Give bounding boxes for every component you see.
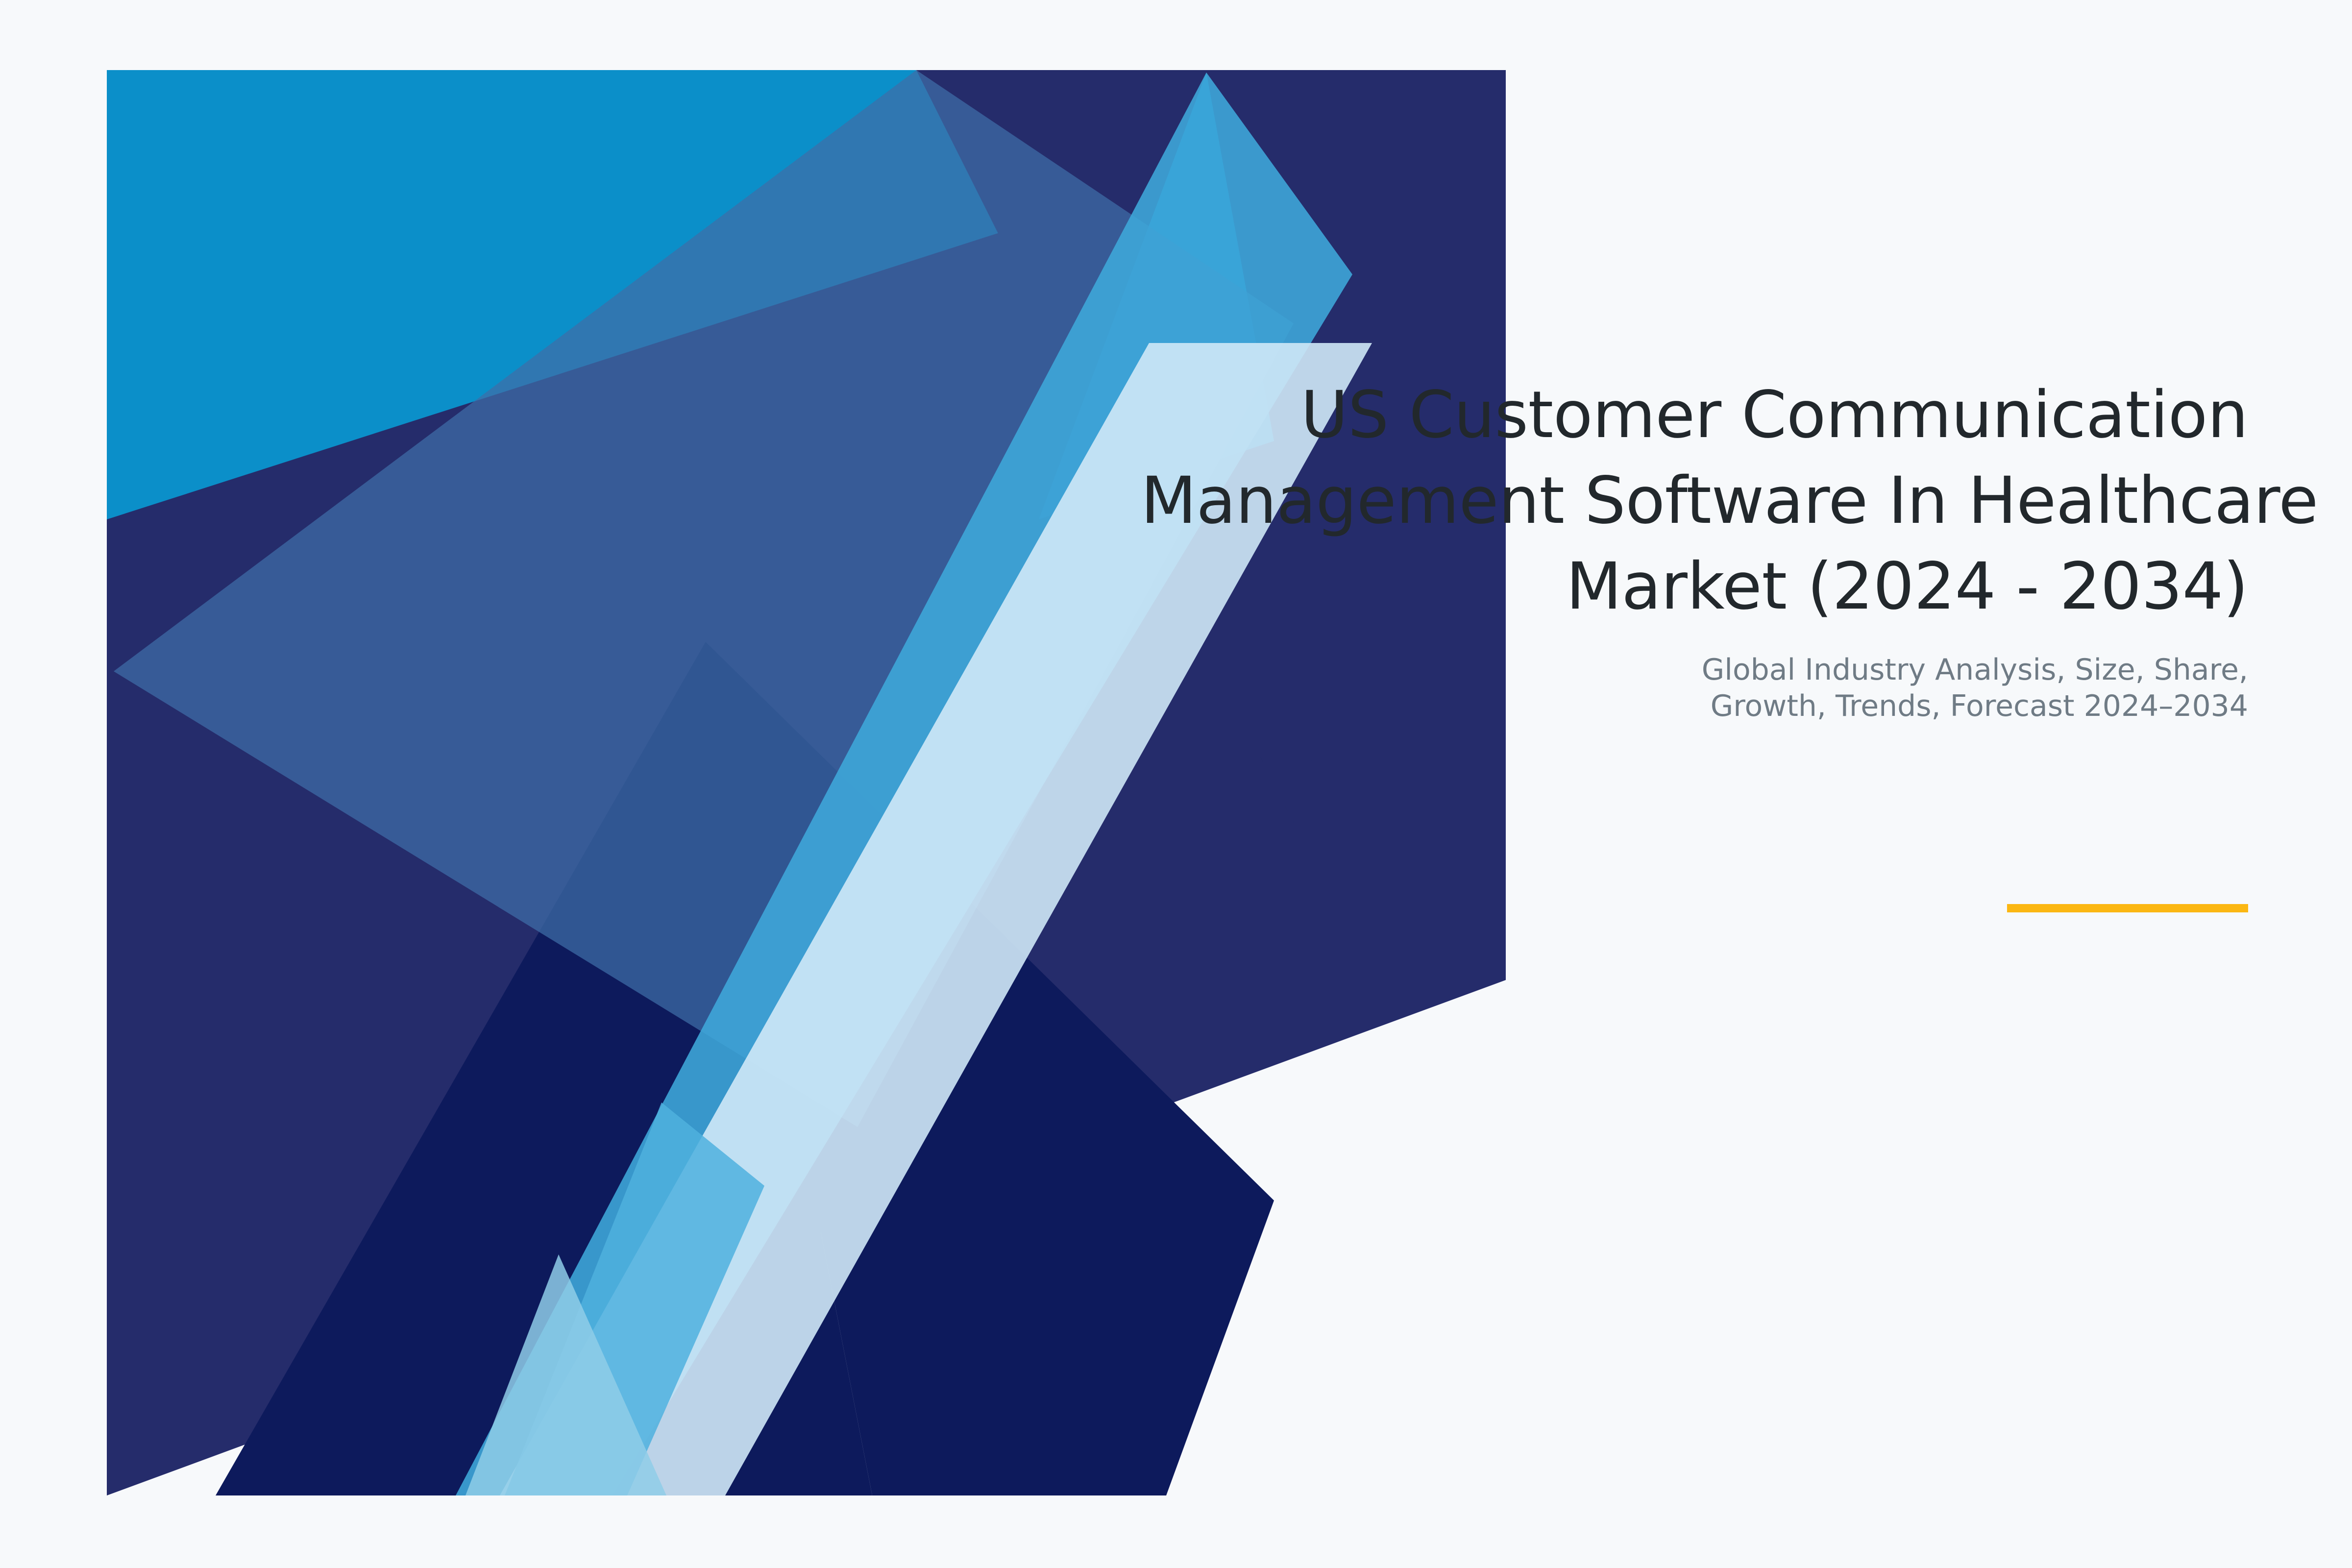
title-line-3: Market (2024 - 2034): [1141, 544, 2248, 630]
page-subtitle: Global Industry Analysis, Size, Share, G…: [1366, 652, 2248, 724]
cover-page: US Customer Communication Management Sof…: [0, 0, 2352, 1568]
artwork-layers: [107, 70, 1506, 1495]
subtitle-line-2: Growth, Trends, Forecast 2024–2034: [1366, 688, 2248, 724]
accent-underline: [2007, 904, 2248, 912]
subtitle-line-1: Global Industry Analysis, Size, Share,: [1366, 652, 2248, 688]
title-line-1: US Customer Communication: [1141, 372, 2248, 458]
title-line-2: Management Software In Healthcare: [1141, 458, 2248, 544]
page-title: US Customer Communication Management Sof…: [1141, 372, 2248, 630]
abstract-geometric-artwork: [0, 0, 2352, 1568]
